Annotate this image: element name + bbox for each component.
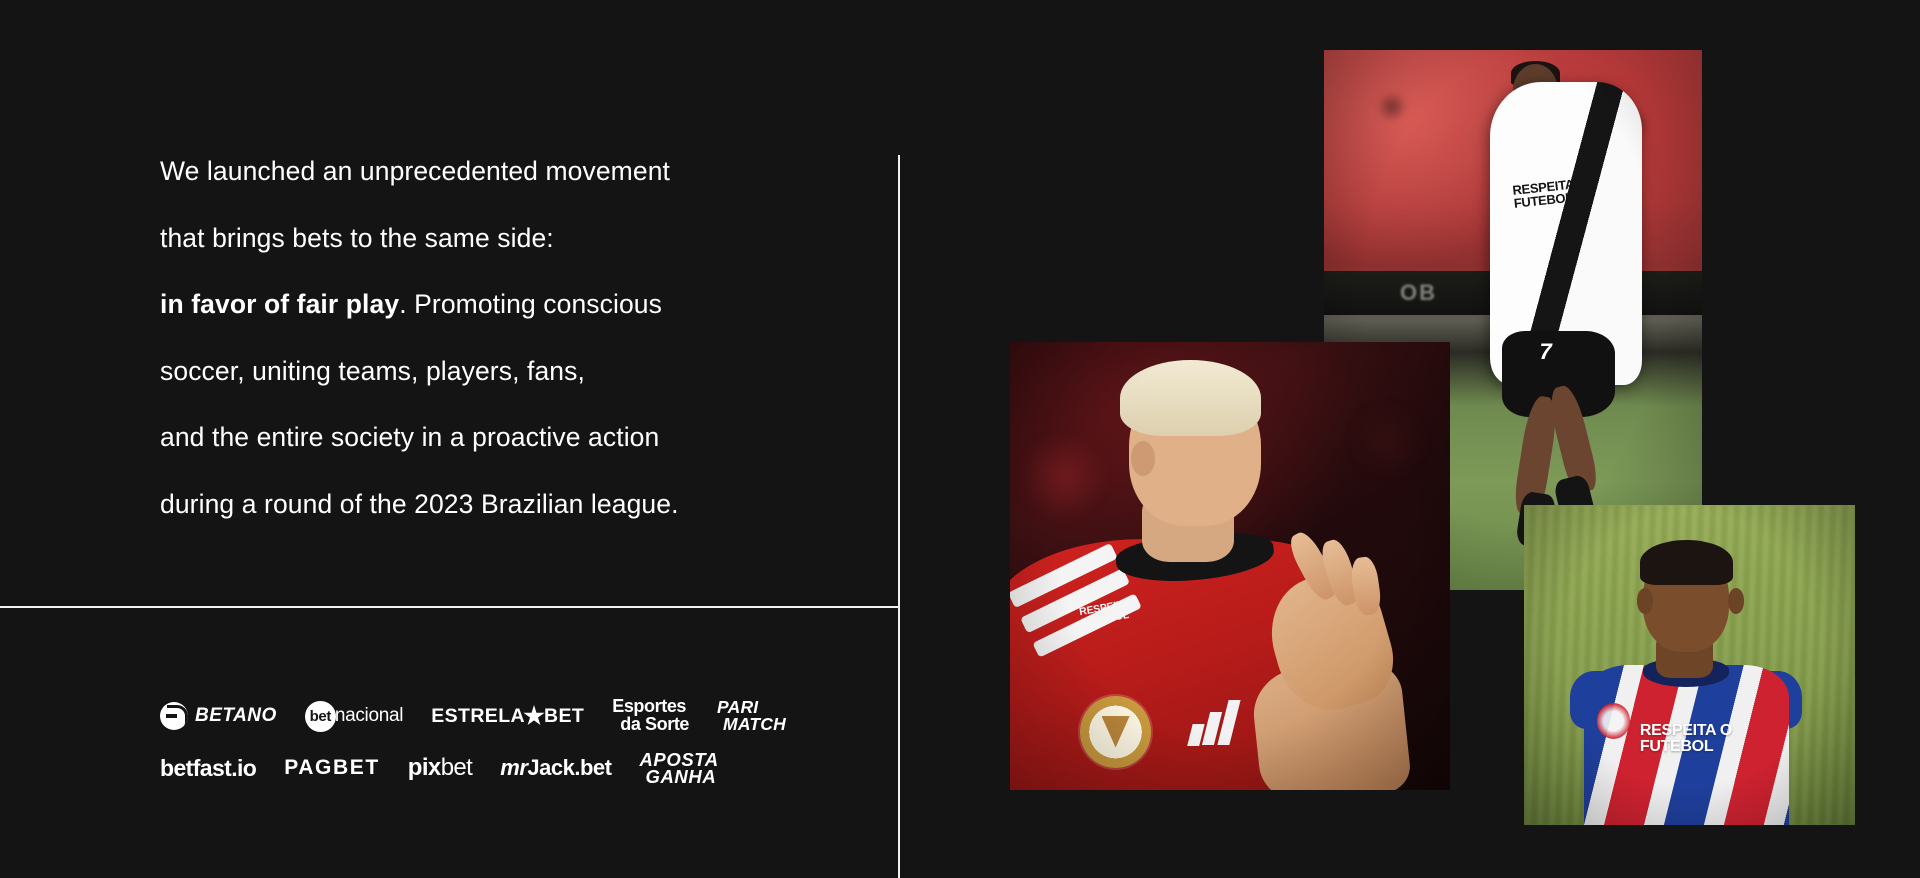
headline-line-1: We launched an unprecedented movement	[160, 138, 840, 205]
player-hair	[1120, 360, 1261, 436]
betano-b-icon	[160, 702, 188, 730]
sponsor-logo-row-1: BETANO bet nacional ESTRELA BET Esportes…	[160, 690, 800, 742]
logo-betnacional[interactable]: bet nacional	[305, 701, 403, 732]
jersey-slogan-line-1: RESPEITA O	[1640, 723, 1732, 739]
logo-parimatch[interactable]: PARI MATCH	[717, 699, 786, 732]
campaign-slide: We launched an unprecedented movement th…	[0, 0, 1920, 878]
logo-aposta-ganha[interactable]: APOSTA GANHA	[639, 751, 718, 785]
logo-estrelabet-right: BET	[544, 705, 584, 728]
logo-betano[interactable]: BETANO	[160, 702, 277, 730]
headline-paragraph: We launched an unprecedented movement th…	[160, 138, 840, 537]
headline-line-3: in favor of fair play. Promoting conscio…	[160, 271, 840, 338]
logo-estrelabet[interactable]: ESTRELA BET	[431, 705, 584, 728]
club-crest-icon	[1597, 703, 1630, 738]
headline-line-2: that brings bets to the same side:	[160, 205, 840, 272]
player-ear-right	[1728, 588, 1745, 614]
logo-betfast-label: betfast.io	[160, 755, 256, 782]
star-icon	[523, 705, 545, 727]
logo-mrjack-part-2: Jack.bet	[527, 755, 611, 781]
apparel-brand-icon	[1186, 700, 1248, 745]
logo-mrjack-bet[interactable]: mrJack.bet	[500, 755, 611, 781]
logo-betnacional-label: nacional	[335, 705, 403, 727]
headline-emphasis: in favor of fair play	[160, 289, 399, 319]
player-hair	[1640, 540, 1733, 585]
headline-line-3-rest: . Promoting conscious	[399, 289, 662, 319]
logo-pixbet-part-1: pix	[408, 754, 441, 782]
photo-collage: OB OB RESPEITA O FUTEBOL 7	[899, 0, 1920, 878]
logo-pagbet-label: PAGBET	[284, 756, 380, 780]
jersey-slogan-line-2: FUTEBOL	[1640, 739, 1732, 755]
betnacional-circle-icon: bet	[305, 701, 336, 732]
logo-betfast-io[interactable]: betfast.io	[160, 755, 256, 782]
photo-flamengo-player: RESPEITA O FUTEBOL	[1010, 342, 1450, 790]
horizontal-divider	[0, 606, 899, 608]
headline-line-6: during a round of the 2023 Brazilian lea…	[160, 471, 840, 538]
photo-bahia-player: RESPEITA O FUTEBOL	[1524, 505, 1855, 825]
left-content-column: We launched an unprecedented movement th…	[0, 0, 899, 878]
logo-parimatch-line-2: MATCH	[723, 716, 786, 733]
player-ear-left	[1637, 588, 1654, 614]
logo-aposta-line-2: GANHA	[645, 768, 716, 785]
logo-mrjack-part-1: mr	[500, 755, 527, 781]
jersey-slogan: RESPEITA O FUTEBOL	[1640, 723, 1732, 756]
logo-esportes-line-2: da Sorte	[620, 716, 689, 734]
sponsor-logo-bank: BETANO bet nacional ESTRELA BET Esportes…	[160, 690, 800, 794]
headline-line-5: and the entire society in a proactive ac…	[160, 404, 840, 471]
headline-line-4: soccer, uniting teams, players, fans,	[160, 338, 840, 405]
jersey-number: 7	[1539, 339, 1551, 365]
club-crest-icon	[1080, 696, 1150, 768]
logo-esportes-da-sorte[interactable]: Esportes da Sorte	[612, 698, 689, 733]
sponsor-logo-row-2: betfast.io PAGBET pixbet mrJack.bet APOS…	[160, 742, 800, 794]
logo-betano-label: BETANO	[195, 705, 277, 727]
logo-estrelabet-left: ESTRELA	[431, 705, 525, 728]
logo-pixbet[interactable]: pixbet	[408, 754, 472, 782]
logo-pixbet-part-2: bet	[441, 754, 473, 782]
logo-pagbet[interactable]: PAGBET	[284, 756, 380, 780]
